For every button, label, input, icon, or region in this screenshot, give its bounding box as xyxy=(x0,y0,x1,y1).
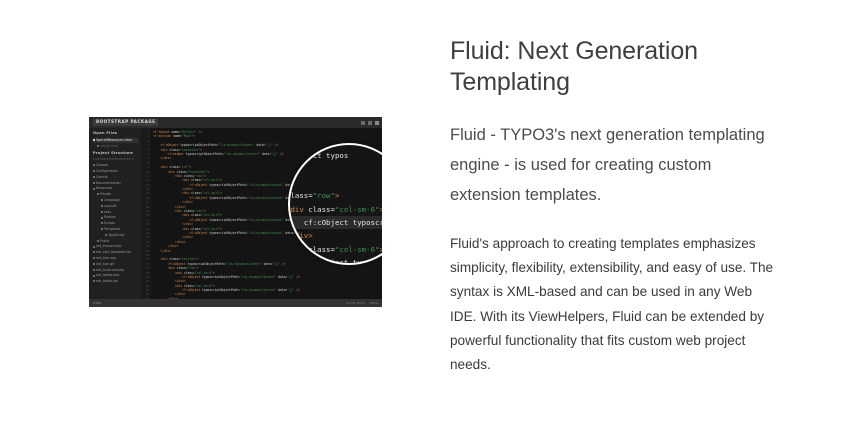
sidebar-file-label: article.html xyxy=(100,144,118,148)
magnified-code-line: :cObject typos xyxy=(288,149,382,162)
sidebar-tree-label: ext_icon.gif xyxy=(96,262,114,266)
page-title: Fluid: Next Generation Templating xyxy=(450,36,775,98)
magnified-code-line: <div class="col-sm-6"> xyxy=(288,203,382,216)
sidebar-heading-project-structure: Project Structure xyxy=(93,152,138,156)
ide-screenshot-figure: BOOTSTRAP PACKAGE Open Files SpecialReso… xyxy=(89,117,382,307)
sidebar-heading-open-files: Open Files xyxy=(93,132,138,136)
sidebar-tree-label: Classes xyxy=(96,163,108,167)
sidebar-tree-label: ext_icon.svg xyxy=(96,256,116,260)
sidebar-tree-label: ext_emconf.php xyxy=(96,244,121,248)
sidebar-project-path: typo3conf/ext/bootstrap_p xyxy=(93,158,138,161)
sidebar-tree-label: Language xyxy=(104,198,120,202)
sidebar-tree-item[interactable]: ext_tables.sql xyxy=(93,279,138,285)
sidebar-tree-label: Less xyxy=(104,210,111,214)
ide-titlebar: BOOTSTRAP PACKAGE xyxy=(89,117,382,128)
sidebar-tree-label: Resources xyxy=(96,186,112,190)
sidebar-tree-label: Configuration xyxy=(96,169,118,173)
ide-statusbar: HTML Ln 13, Col 9 100% xyxy=(89,299,382,307)
ide-window-title: BOOTSTRAP PACKAGE xyxy=(93,119,158,126)
sidebar-tree-label: ext_conf_template.txt xyxy=(96,250,131,254)
maximize-icon[interactable] xyxy=(368,121,372,125)
line-number-gutter: 1234567891011121314151617181920212223242… xyxy=(141,128,151,299)
sidebar-file-label: SpecialResources.html xyxy=(96,138,132,142)
sidebar-tree-label: Documentation xyxy=(96,181,121,185)
status-cursor-position[interactable]: Ln 13, Col 9 xyxy=(347,302,365,305)
magnified-code-line: iv> xyxy=(288,162,382,175)
status-zoom-level[interactable]: 100% xyxy=(369,302,378,305)
statusbar-right-group: Ln 13, Col 9 100% xyxy=(347,302,378,305)
magnified-code-line xyxy=(288,176,382,189)
sidebar-tree-label: ext_tables.php xyxy=(96,273,119,277)
close-icon[interactable] xyxy=(375,121,379,125)
sidebar-tree-label: Layouts xyxy=(104,204,117,208)
ide-sidebar: Open Files SpecialResources.html article… xyxy=(89,128,141,299)
sidebar-tree-label: ext_tables.sql xyxy=(96,279,118,283)
status-language: HTML xyxy=(93,302,101,305)
magnified-code-line: <div class="col-sm-6"> xyxy=(288,243,382,256)
window-controls xyxy=(361,121,379,125)
sidebar-tree-label: Public xyxy=(100,239,109,243)
sidebar-tree-label: Templates xyxy=(104,227,120,231)
article-text-column: Fluid: Next Generation Templating Fluid … xyxy=(450,36,775,377)
sidebar-tree-label: TypoScript xyxy=(108,233,125,237)
code-line: </div> xyxy=(153,297,382,299)
magnifier-content: :cObject typosiv> class="row"><div class… xyxy=(288,149,382,265)
magnified-code-line: </div> xyxy=(288,229,382,242)
magnified-code-line: class="row"> xyxy=(288,189,382,202)
sidebar-tree-label: Contrib xyxy=(96,175,108,179)
article-lead-paragraph: Fluid - TYPO3's next generation templati… xyxy=(450,120,775,210)
magnifier-lens: :cObject typosiv> class="row"><div class… xyxy=(288,143,382,265)
sidebar-tree-label: Partials xyxy=(104,215,116,219)
minimize-icon[interactable] xyxy=(361,121,365,125)
line-number: 39 xyxy=(141,297,151,299)
sidebar-file-item[interactable]: article.html xyxy=(93,143,138,149)
magnified-code-line: cf:cObject typoscriptObj xyxy=(288,216,382,229)
sidebar-tree-label: ext_localconf.php xyxy=(96,268,124,272)
sidebar-tree-label: Private xyxy=(100,192,111,196)
article-body-paragraph: Fluid's approach to creating templates e… xyxy=(450,232,775,377)
sidebar-tree-label: Scripts xyxy=(104,221,115,225)
